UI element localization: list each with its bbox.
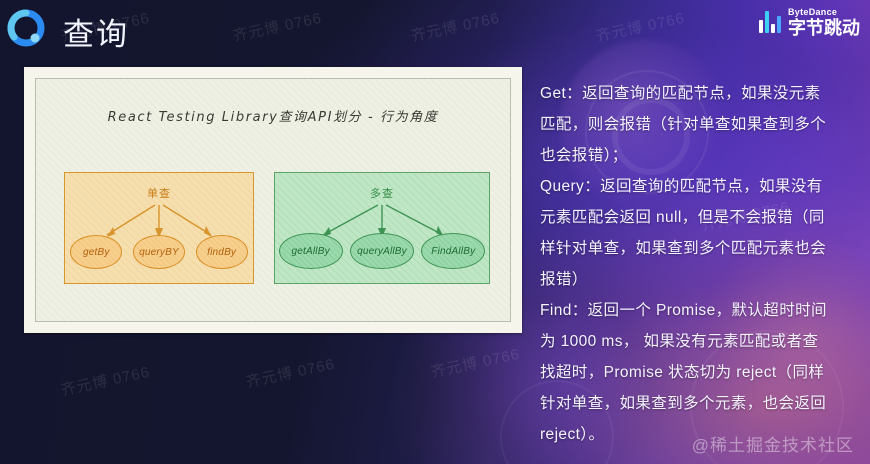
note-line: 样针对单查，如果查到多个匹配元素也会 — [540, 233, 862, 264]
watermark-user: 齐元博 0766 — [59, 361, 152, 400]
note-line: 元素匹配会返回 null，但是不会报错（同 — [540, 202, 862, 233]
single-query-nodes: getBy queryBY findBy — [65, 235, 253, 269]
group-multi-query: 多查 getAllBy queryAllBy — [274, 172, 490, 284]
diagram-title: React Testing Library查询API划分 - 行为角度 — [36, 106, 510, 125]
bytedance-brand-logo: ByteDance 字节跳动 — [747, 0, 870, 44]
group-single-query: 单查 getBy queryBY find — [64, 172, 254, 284]
note-line: Get：返回查询的匹配节点，如果没元素 — [540, 78, 862, 109]
note-line: Query：返回查询的匹配节点，如果没有 — [540, 171, 862, 202]
node-queryby[interactable]: queryBY — [133, 235, 185, 269]
note-line: 为 1000 ms， 如果没有元素匹配或者查 — [540, 326, 862, 357]
note-line: 报错） — [540, 264, 862, 295]
note-line: 匹配，则会报错（针对单查如果查到多个 — [540, 109, 862, 140]
note-line: reject）。 — [540, 419, 862, 450]
brand-text-block: ByteDance 字节跳动 — [788, 8, 860, 37]
watermark-user: 齐元博 0766 — [409, 7, 502, 46]
brand-name-cn: 字节跳动 — [788, 19, 860, 37]
circular-q-logo-icon — [6, 8, 46, 48]
node-findallby[interactable]: FindAllBy — [421, 233, 485, 269]
node-getallby[interactable]: getAllBy — [279, 233, 343, 269]
diagram-card-inner: 齐元博 0766 齐元博 0766 React Testing Library查… — [35, 78, 511, 322]
notes-panel: Get：返回查询的匹配节点，如果没元素 匹配，则会报错（针对单查如果查到多个 也… — [540, 78, 862, 450]
presentation-slide: 齐元博 0766 齐元博 0766 齐元博 0766 齐元博 0766 齐元博 … — [0, 0, 870, 464]
watermark-user: 齐元博 0766 — [231, 7, 324, 46]
watermark-user: 齐元博 0766 — [429, 343, 522, 382]
page-title: 查询 — [63, 9, 129, 54]
watermark-user: 齐元博 0766 — [594, 7, 687, 46]
node-getby[interactable]: getBy — [70, 235, 122, 269]
note-line: Find：返回一个 Promise，默认超时时间 — [540, 295, 862, 326]
brand-name-en: ByteDance — [788, 8, 860, 17]
bytedance-bars-icon — [759, 11, 781, 33]
watermark-user: 齐元博 0766 — [244, 353, 337, 392]
note-line: 也会报错）； — [540, 140, 862, 171]
note-line: 针对单查，如果查到多个元素，也会返回 — [540, 388, 862, 419]
diagram-card: 齐元博 0766 齐元博 0766 React Testing Library查… — [24, 67, 522, 333]
node-queryallby[interactable]: queryAllBy — [350, 233, 414, 269]
note-line: 找超时，Promise 状态切为 reject（同样 — [540, 357, 862, 388]
multi-query-nodes: getAllBy queryAllBy FindAllBy — [275, 233, 489, 269]
node-findby[interactable]: findBy — [196, 235, 248, 269]
